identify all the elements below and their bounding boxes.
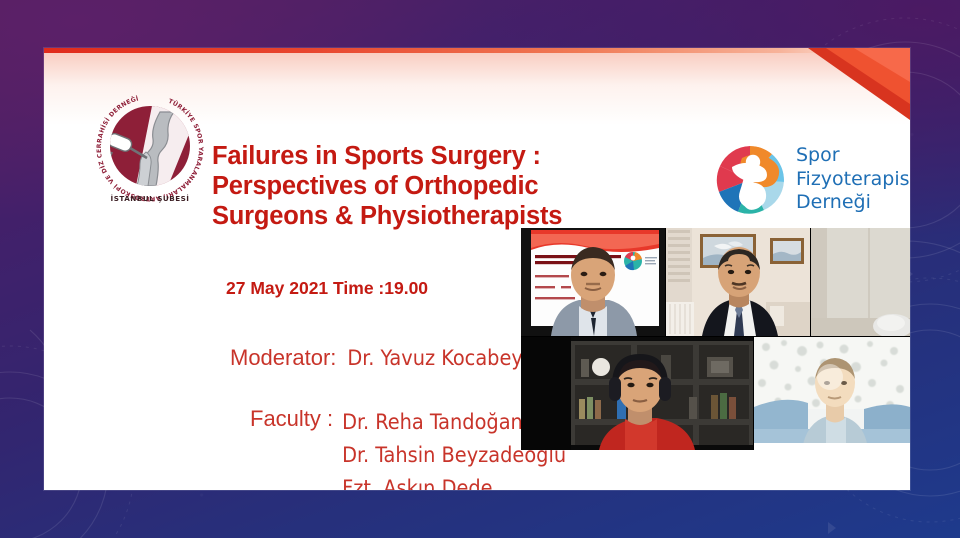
participant-tile-5[interactable] (754, 337, 910, 450)
slide-corner-wedge (780, 48, 910, 128)
title-line-3: Surgeons & Physiotherapists (212, 201, 652, 231)
sfd-emblem-icon (712, 142, 788, 218)
participant-tile-2[interactable] (666, 228, 810, 336)
moderator-label: Moderator: (230, 345, 336, 371)
participant-video-grid[interactable] (521, 228, 910, 450)
title-line-2: Perspectives of Orthopedic (212, 171, 652, 201)
participant-video-5 (754, 337, 910, 450)
moderator-row: Moderator: Dr. Yavuz Kocabey (230, 342, 523, 375)
tusyad-logo: TÜRKİYE SPOR YARALANMALARI, ARTROSKOPİ V… (90, 88, 210, 208)
video-call-stage: TÜRKİYE SPOR YARALANMALARI, ARTROSKOPİ V… (0, 0, 960, 538)
participant-tile-1[interactable] (521, 228, 665, 336)
sfd-text-line-3: Derneği (796, 191, 910, 215)
spor-fizyoterapistleri-dernegi-logo: Spor Fizyoterapistleri Derneği (712, 140, 910, 222)
slide-title: Failures in Sports Surgery : Perspective… (212, 141, 652, 231)
moderator-name: Dr. Yavuz Kocabey (347, 342, 522, 375)
sfd-text-line-1: Spor (796, 144, 910, 168)
faculty-name-3: Fzt. Aşkın Dede (342, 472, 566, 490)
participant-video-4 (521, 337, 753, 450)
sfd-text-line-2: Fizyoterapistleri (796, 168, 910, 192)
svg-text:İSTANBUL ŞUBESİ: İSTANBUL ŞUBESİ (111, 194, 190, 203)
participant-video-2 (666, 228, 810, 336)
participant-video-3 (811, 228, 910, 336)
sfd-logo-text: Spor Fizyoterapistleri Derneği (796, 144, 910, 215)
faculty-row: Faculty : Dr. Reha Tandoğan Dr. Tahsin B… (250, 406, 566, 490)
participant-tile-3[interactable] (811, 228, 910, 336)
participant-tile-4[interactable] (521, 337, 753, 450)
faculty-label: Faculty : (250, 406, 333, 432)
title-line-1: Failures in Sports Surgery : (212, 141, 652, 171)
event-date-time: 27 May 2021 Time :19.00 (226, 278, 428, 299)
participant-video-1 (521, 228, 665, 336)
